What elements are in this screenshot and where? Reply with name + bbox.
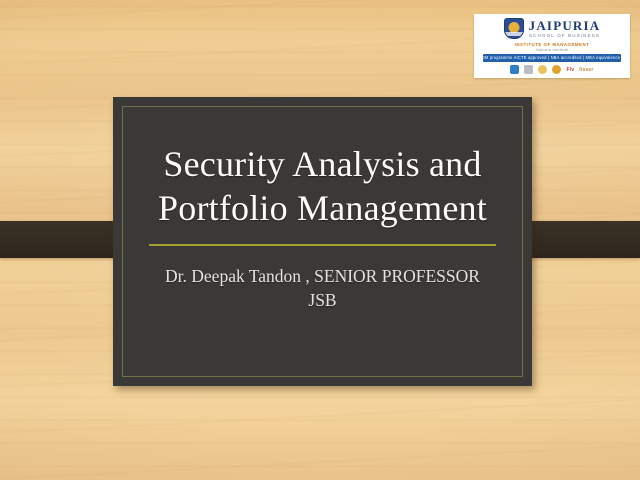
slide-title-line-2: Portfolio Management — [141, 187, 504, 231]
ribbon-icon — [538, 65, 547, 74]
crest-emblem-icon — [504, 18, 524, 39]
title-divider-rule — [149, 244, 496, 246]
partner-logo-icon: F/v — [566, 67, 574, 73]
logo-accreditation-text: INSTITUTE OF MANAGEMENT — [515, 42, 590, 47]
logo-accreditation-icon-row: F/v Iisser — [510, 65, 593, 75]
logo-sub-text: Jaipuria Institute — [535, 48, 568, 52]
title-card-inner-border: Security Analysis and Portfolio Manageme… — [122, 106, 523, 377]
accreditation-badge-icon — [510, 65, 519, 74]
logo-institution-name: JAIPURIA — [529, 19, 601, 32]
slide-subtitle-line-2: JSB — [137, 289, 508, 313]
title-block: Security Analysis and Portfolio Manageme… — [123, 143, 522, 231]
wordmark-icon: Iisser — [579, 67, 593, 73]
subtitle-block: Dr. Deepak Tandon , SENIOR PROFESSOR JSB — [123, 265, 522, 312]
building-icon — [524, 65, 533, 74]
jaipuria-logo: JAIPURIA SCHOOL OF BUSINESS INSTITUTE OF… — [474, 14, 630, 78]
logo-tagline: SCHOOL OF BUSINESS — [529, 34, 600, 39]
logo-approval-bar: PGDM programme AICTE approved | NBA accr… — [483, 54, 621, 62]
slide-subtitle-line-1: Dr. Deepak Tandon , SENIOR PROFESSOR — [137, 265, 508, 289]
logo-primary-row: JAIPURIA SCHOOL OF BUSINESS — [504, 18, 601, 40]
logo-wordmark: JAIPURIA SCHOOL OF BUSINESS — [529, 19, 601, 38]
presentation-slide: Security Analysis and Portfolio Manageme… — [0, 0, 640, 480]
seal-icon — [552, 65, 561, 74]
slide-title-line-1: Security Analysis and — [141, 143, 504, 187]
title-card: Security Analysis and Portfolio Manageme… — [113, 97, 532, 386]
